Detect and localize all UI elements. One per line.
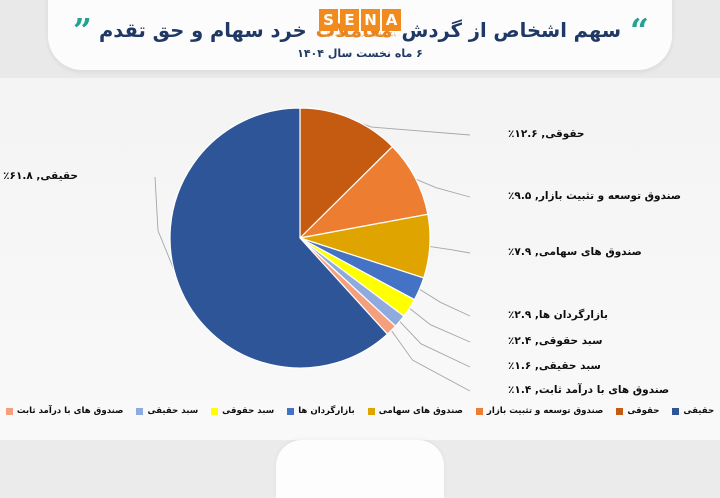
sena-logo: SENA پایگاه اطلاع رسانی بازار سرمایه ایر…	[276, 9, 444, 38]
infographic-page: “ سهم اشخاص از گردش معاملات خرد سهام و ح…	[0, 0, 720, 498]
legend-label: صندوق های سهامی	[379, 406, 463, 416]
legend-swatch-icon	[476, 408, 483, 415]
leader-line	[428, 246, 470, 253]
leader-line	[408, 307, 470, 342]
legend-item[interactable]: سبد حقوقی	[211, 406, 274, 416]
quote-close-icon: ”	[73, 14, 90, 47]
legend-label: بازارگردان ها	[298, 406, 355, 416]
legend-label: سبد حقوقی	[222, 406, 274, 416]
legend-swatch-icon	[672, 408, 679, 415]
pie-chart-svg	[0, 86, 720, 392]
legend-item[interactable]: صندوق های سهامی	[368, 406, 463, 416]
legend-item[interactable]: صندوق توسعه و تثبیت بازار	[476, 406, 603, 416]
callout-haghighi: حقیقی, ۶۱.۸٪	[3, 170, 78, 182]
legend-item[interactable]: سبد حقیقی	[136, 406, 198, 416]
callout-sandoogh-tosee: صندوق توسعه و تثبیت بازار, ۹.۵٪	[508, 190, 681, 202]
legend-item[interactable]: حقوقی	[616, 406, 659, 416]
legend-swatch-icon	[287, 408, 294, 415]
callout-bazargardan: بازارگردان ها, ۲.۹٪	[508, 309, 608, 321]
leader-line	[418, 289, 470, 317]
legend-swatch-icon	[136, 408, 143, 415]
callout-sandoogh-sahami: صندوق های سهامی, ۷.۹٪	[508, 246, 642, 258]
legend-swatch-icon	[211, 408, 218, 415]
logo-letter: A	[382, 9, 401, 31]
logo-letter: E	[340, 9, 359, 31]
leader-line	[399, 320, 470, 367]
legend-label: صندوق توسعه و تثبیت بازار	[487, 406, 603, 416]
callout-sabad-hoghooghi: سبد حقوقی, ۲.۴٪	[508, 335, 602, 347]
footer-band	[0, 440, 720, 498]
logo-letter: N	[361, 9, 380, 31]
legend-item[interactable]: صندوق های با درآمد ثابت	[6, 406, 124, 416]
legend-item[interactable]: حقیقی	[672, 406, 714, 416]
quote-open-icon: “	[630, 14, 647, 47]
pie-chart: حقوقی, ۱۲.۶٪صندوق توسعه و تثبیت بازار, ۹…	[0, 86, 720, 392]
legend-swatch-icon	[6, 408, 13, 415]
logo-letters: SENA	[319, 9, 401, 31]
legend-swatch-icon	[616, 408, 623, 415]
legend-label: سبد حقیقی	[147, 406, 198, 416]
leader-line	[391, 329, 470, 391]
logo-tagline: پایگاه اطلاع رسانی بازار سرمایه ایران	[324, 33, 397, 38]
callout-hoghooghi: حقوقی, ۱۲.۶٪	[508, 128, 585, 140]
pie-slices	[170, 108, 430, 368]
chart-legend: صندوق های با درآمد ثابتسبد حقیقیسبد حقوق…	[0, 400, 720, 422]
legend-label: حقوقی	[627, 406, 659, 416]
legend-label: صندوق های با درآمد ثابت	[17, 406, 124, 416]
legend-swatch-icon	[368, 408, 375, 415]
legend-label: حقیقی	[683, 406, 714, 416]
page-subtitle: ۶ ماه نخست سال ۱۴۰۴	[48, 47, 672, 60]
logo-letter: S	[319, 9, 338, 31]
callout-sabad-haghighi: سبد حقیقی, ۱.۶٪	[508, 360, 601, 372]
legend-item[interactable]: بازارگردان ها	[287, 406, 355, 416]
callout-daramad-sabet: صندوق های با درآمد ثابت, ۱.۴٪	[508, 384, 669, 396]
footer-plate	[276, 440, 444, 498]
